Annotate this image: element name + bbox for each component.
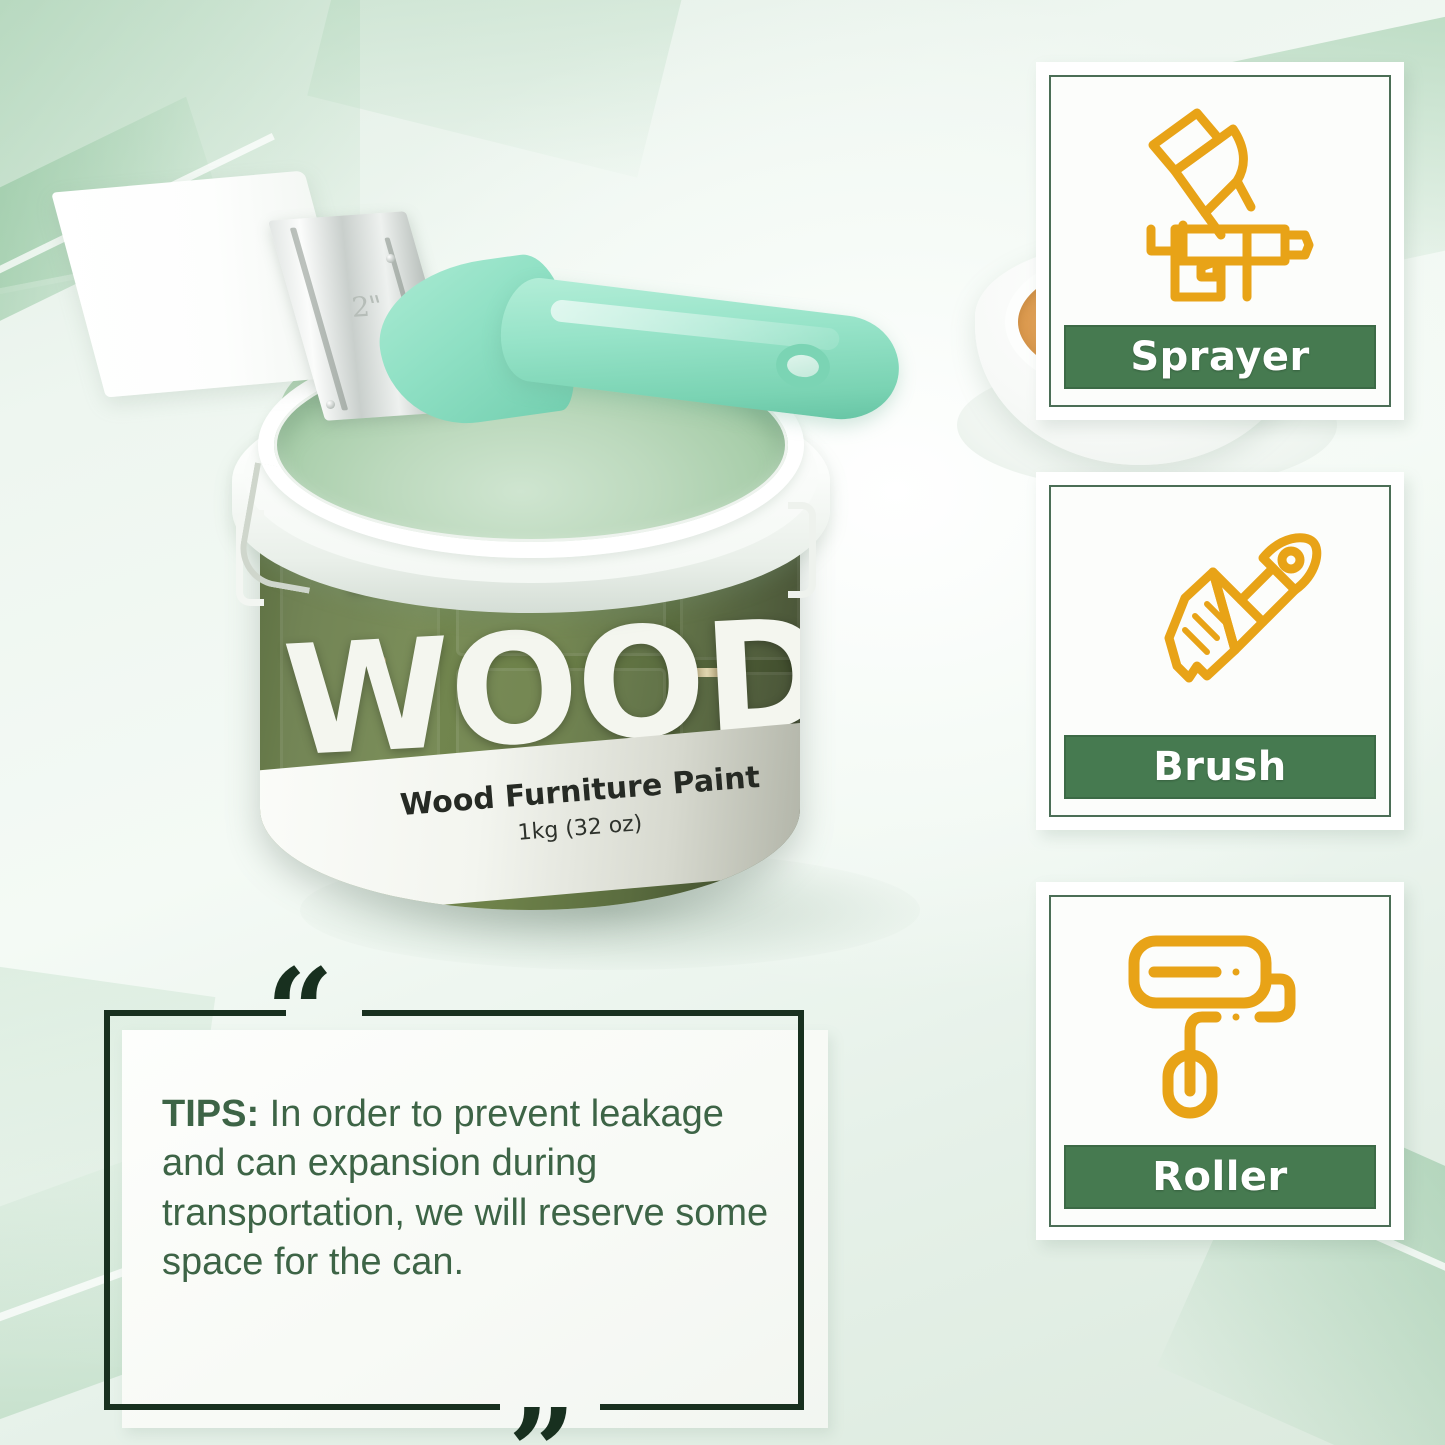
method-label-bar: Brush	[1064, 735, 1376, 799]
paint-roller-icon	[1120, 931, 1320, 1121]
frame-edge-right	[798, 1010, 804, 1410]
method-card-brush[interactable]: Brush	[1036, 472, 1404, 830]
method-label-bar: Roller	[1064, 1145, 1376, 1209]
brush-handle	[380, 262, 900, 432]
application-method-cards: Sprayer	[1036, 62, 1404, 1292]
frame-edge-top-left	[104, 1010, 286, 1016]
paint-brush: 2"	[80, 150, 980, 530]
paint-brush-icon	[1113, 516, 1328, 716]
method-label: Roller	[1152, 1154, 1288, 1200]
ferrule-rivet	[326, 400, 335, 409]
icon-area	[1051, 77, 1389, 325]
quote-open-mark: “	[266, 966, 334, 1058]
icon-area	[1051, 487, 1389, 735]
tips-frame	[104, 1010, 804, 1410]
frame-edge-bottom-left	[104, 1404, 500, 1410]
frame-edge-top-right	[362, 1010, 804, 1016]
frame-edge-left	[104, 1010, 110, 1410]
quote-close-mark: ”	[508, 1406, 576, 1445]
method-label: Brush	[1153, 744, 1286, 790]
card-inner-frame: Sprayer	[1049, 75, 1391, 407]
frame-edge-bottom-right	[600, 1404, 804, 1410]
tips-callout: TIPS: In order to prevent leakage and ca…	[104, 1010, 804, 1410]
product-photo: Dwil WOOD Wood Furniture Paint 1kg (32 o…	[140, 150, 980, 980]
card-inner-frame: Roller	[1049, 895, 1391, 1227]
method-card-roller[interactable]: Roller	[1036, 882, 1404, 1240]
icon-area	[1051, 897, 1389, 1145]
card-inner-frame: Brush	[1049, 485, 1391, 817]
method-card-sprayer[interactable]: Sprayer	[1036, 62, 1404, 420]
spray-gun-icon	[1113, 101, 1328, 311]
method-label: Sprayer	[1130, 334, 1309, 380]
method-label-bar: Sprayer	[1064, 325, 1376, 389]
